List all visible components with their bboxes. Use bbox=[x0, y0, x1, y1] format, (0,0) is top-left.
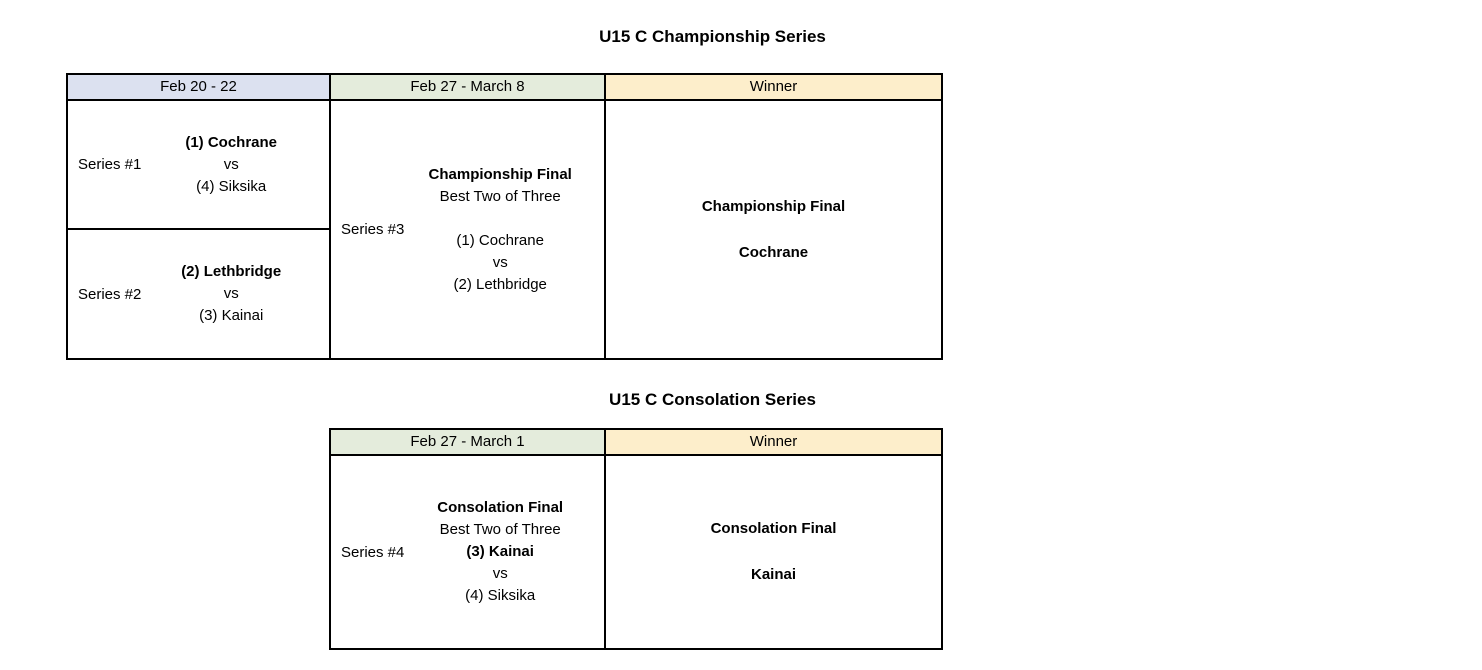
series-4-cell[interactable]: Series #4 Consolation Final Best Two of … bbox=[330, 455, 605, 649]
series-1-vs: vs bbox=[141, 154, 321, 176]
series-2-matchup: (2) Lethbridge vs (3) Kainai bbox=[141, 261, 329, 327]
series-3-team-top: (1) Cochrane bbox=[404, 230, 596, 252]
header-winner: Winner bbox=[605, 74, 942, 100]
series-4-team-top: (3) Kainai bbox=[404, 541, 596, 563]
championship-header-row: Feb 20 - 22 Feb 27 - March 8 Winner bbox=[67, 74, 942, 100]
series-4-final-name: Consolation Final bbox=[404, 497, 596, 519]
consolation-winner-cell[interactable]: Consolation Final Kainai bbox=[605, 455, 942, 649]
series-3-gap bbox=[404, 208, 596, 230]
header-round1-dates: Feb 20 - 22 bbox=[67, 74, 330, 100]
series-2-label: Series #2 bbox=[68, 286, 141, 303]
championship-bracket-table: Feb 20 - 22 Feb 27 - March 8 Winner Seri… bbox=[66, 73, 943, 360]
series-2-team-bottom: (3) Kainai bbox=[141, 305, 321, 327]
championship-winner-final-name: Championship Final bbox=[606, 196, 941, 218]
series-1-team-top: (1) Cochrane bbox=[141, 132, 321, 154]
series-3-cell[interactable]: Series #3 Championship Final Best Two of… bbox=[330, 100, 605, 359]
series-4-format: Best Two of Three bbox=[404, 519, 596, 541]
series-3-final-name: Championship Final bbox=[404, 164, 596, 186]
consolation-series-title: U15 C Consolation Series bbox=[0, 390, 1425, 410]
series-2-team-top: (2) Lethbridge bbox=[141, 261, 321, 283]
series-3-vs: vs bbox=[404, 252, 596, 274]
series-3-format: Best Two of Three bbox=[404, 186, 596, 208]
consolation-header-row: Feb 27 - March 1 Winner bbox=[330, 429, 942, 455]
consolation-header-round2-dates: Feb 27 - March 1 bbox=[330, 429, 605, 455]
consolation-series4-row: Series #4 Consolation Final Best Two of … bbox=[330, 455, 942, 649]
series-2-cell[interactable]: Series #2 (2) Lethbridge vs (3) Kainai bbox=[67, 229, 330, 359]
series-4-team-bottom: (4) Siksika bbox=[404, 585, 596, 607]
series-1-team-bottom: (4) Siksika bbox=[141, 176, 321, 198]
consolation-header-winner: Winner bbox=[605, 429, 942, 455]
championship-winner-gap bbox=[606, 218, 941, 242]
series-1-cell[interactable]: Series #1 (1) Cochrane vs (4) Siksika bbox=[67, 100, 330, 229]
series-1-matchup: (1) Cochrane vs (4) Siksika bbox=[141, 132, 329, 198]
consolation-winner-team: Kainai bbox=[606, 564, 941, 586]
championship-series1-row: Series #1 (1) Cochrane vs (4) Siksika Se… bbox=[67, 100, 942, 229]
championship-series-title: U15 C Championship Series bbox=[0, 27, 1425, 47]
championship-winner-team: Cochrane bbox=[606, 242, 941, 264]
header-round2-dates: Feb 27 - March 8 bbox=[330, 74, 605, 100]
championship-winner-cell[interactable]: Championship Final Cochrane bbox=[605, 100, 942, 359]
series-4-matchup: Consolation Final Best Two of Three (3) … bbox=[404, 497, 604, 607]
series-3-matchup: Championship Final Best Two of Three (1)… bbox=[404, 164, 604, 296]
consolation-winner-gap bbox=[606, 540, 941, 564]
series-2-vs: vs bbox=[141, 283, 321, 305]
series-3-team-bottom: (2) Lethbridge bbox=[404, 274, 596, 296]
consolation-bracket-table: Feb 27 - March 1 Winner Series #4 Consol… bbox=[329, 428, 943, 650]
series-4-vs: vs bbox=[404, 563, 596, 585]
consolation-winner-final-name: Consolation Final bbox=[606, 518, 941, 540]
series-4-label: Series #4 bbox=[331, 544, 404, 561]
series-1-label: Series #1 bbox=[68, 156, 141, 173]
series-3-label: Series #3 bbox=[331, 221, 404, 238]
